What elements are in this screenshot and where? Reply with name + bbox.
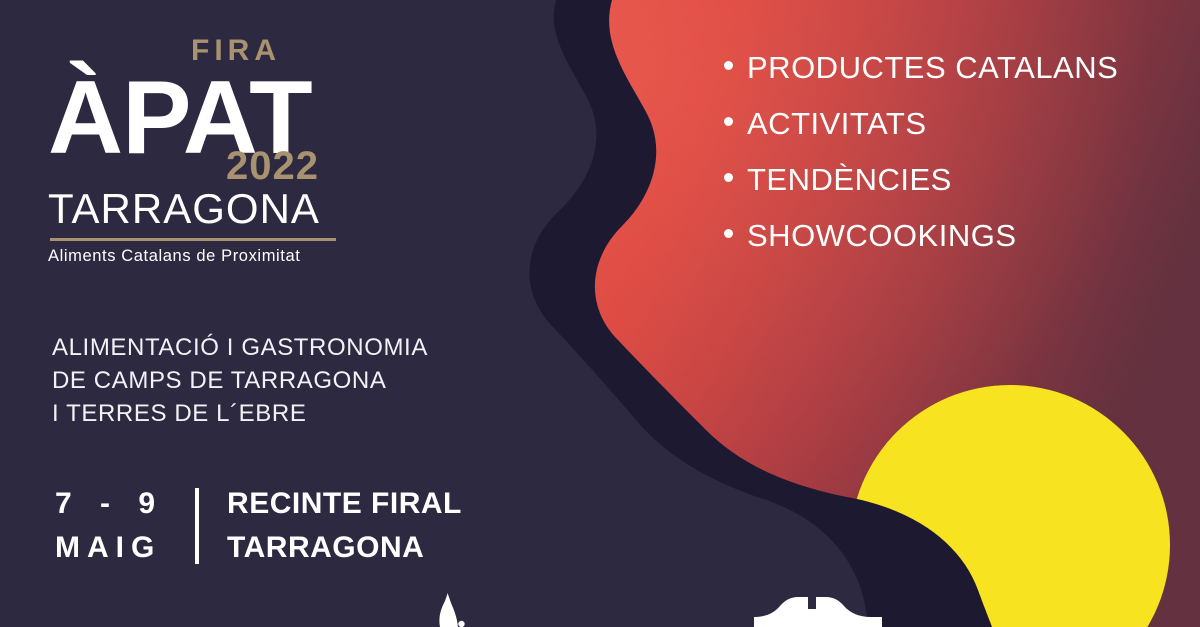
event-venue-line-1: RECINTE FIRAL <box>227 486 462 522</box>
descriptor-line-3: I TERRES DE L´EBRE <box>52 397 428 430</box>
event-venue: RECINTE FIRAL TARRAGONA <box>227 486 462 566</box>
descriptor-line-1: ALIMENTACIÓ I GASTRONOMIA <box>52 331 428 364</box>
gold-rule-icon <box>50 238 336 241</box>
bullet-dot-icon <box>724 61 733 70</box>
partner-mark-right <box>754 597 882 627</box>
list-item-label: ACTIVITATS <box>747 108 927 139</box>
partner-mark-right-icon <box>754 597 882 627</box>
partner-mark-left <box>414 593 484 627</box>
list-item: SHOWCOOKINGS <box>724 220 1164 251</box>
logo-year: 2022 <box>226 146 319 186</box>
bullet-dot-icon <box>724 173 733 182</box>
list-item-label: SHOWCOOKINGS <box>747 220 1017 251</box>
descriptor-line-2: DE CAMPS DE TARRAGONA <box>52 364 428 397</box>
event-date: 7 - 9 MAIG <box>55 486 165 566</box>
banner-canvas: FIRA ÀPAT 2022 TARRAGONA Aliments Catala… <box>0 0 1200 627</box>
list-item: TENDÈNCIES <box>724 164 1164 195</box>
logo-name: ÀPAT <box>48 62 388 174</box>
list-item: ACTIVITATS <box>724 108 1164 139</box>
logo-name-row: ÀPAT 2022 <box>48 62 388 174</box>
bullet-dot-icon <box>724 117 733 126</box>
event-details: 7 - 9 MAIG RECINTE FIRAL TARRAGONA <box>55 486 462 566</box>
list-item: PRODUCTES CATALANS <box>724 52 1164 83</box>
logo-tagline: Aliments Catalans de Proximitat <box>48 248 388 265</box>
event-logo: FIRA ÀPAT 2022 TARRAGONA Aliments Catala… <box>48 36 388 265</box>
highlights-list: PRODUCTES CATALANS ACTIVITATS TENDÈNCIES… <box>724 52 1164 276</box>
vertical-divider-icon <box>195 488 199 564</box>
event-descriptor: ALIMENTACIÓ I GASTRONOMIA DE CAMPS DE TA… <box>52 331 428 430</box>
event-date-month: MAIG <box>55 530 165 566</box>
bullet-dot-icon <box>724 229 733 238</box>
logo-city: TARRAGONA <box>48 188 388 230</box>
list-item-label: PRODUCTES CATALANS <box>747 52 1118 83</box>
list-item-label: TENDÈNCIES <box>747 164 952 195</box>
partner-mark-left-icon <box>414 593 484 627</box>
event-date-days: 7 - 9 <box>55 487 165 520</box>
event-venue-line-2: TARRAGONA <box>227 530 462 566</box>
